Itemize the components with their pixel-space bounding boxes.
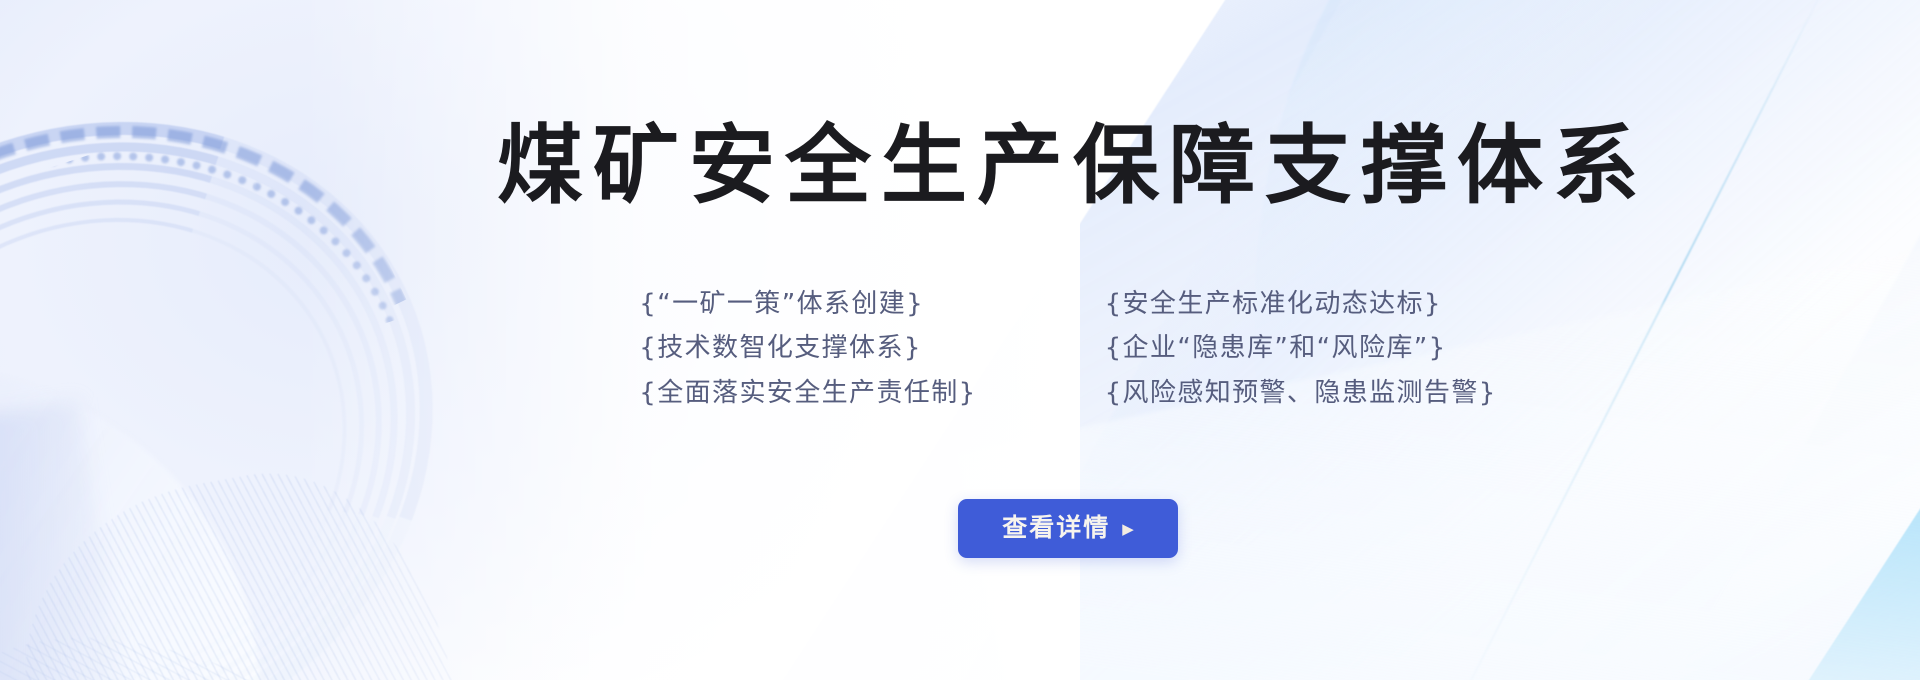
subtitle-item: {安全生产标准化动态达标} (1105, 287, 1497, 322)
view-details-label: 查看详情 (1002, 516, 1110, 541)
subtitle-item: {“一矿一策”体系创建} (639, 287, 976, 322)
subtitle-item: {企业“隐患库”和“风险库”} (1105, 331, 1497, 366)
play-triangle-icon: ▶ (1122, 522, 1134, 537)
cta-container: 查看详情 ▶ (0, 499, 1920, 558)
subtitle-item: {技术数智化支撑体系} (639, 331, 976, 366)
subtitle-item: {全面落实安全生产责任制} (639, 376, 976, 411)
subtitle-column-left: {“一矿一策”体系创建} {技术数智化支撑体系} {全面落实安全生产责任制} (639, 287, 976, 411)
hero-banner: 煤矿安全生产保障支撑体系 {“一矿一策”体系创建} {技术数智化支撑体系} {全… (0, 0, 1920, 680)
view-details-button[interactable]: 查看详情 ▶ (958, 499, 1178, 558)
subtitle-columns: {“一矿一策”体系创建} {技术数智化支撑体系} {全面落实安全生产责任制} {… (0, 287, 1920, 411)
banner-content: 煤矿安全生产保障支撑体系 {“一矿一策”体系创建} {技术数智化支撑体系} {全… (0, 0, 1920, 680)
subtitle-item: {风险感知预警、隐患监测告警} (1105, 376, 1497, 411)
page-title: 煤矿安全生产保障支撑体系 (0, 118, 1920, 214)
subtitle-column-right: {安全生产标准化动态达标} {企业“隐患库”和“风险库”} {风险感知预警、隐患… (1105, 287, 1497, 411)
